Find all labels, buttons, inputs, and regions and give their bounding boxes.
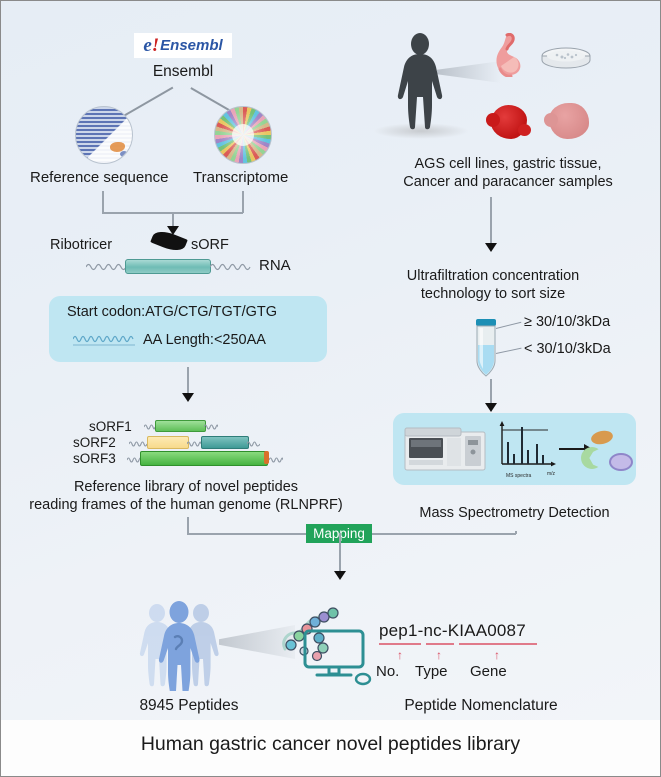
library-caption-line1: Reference library of novel peptides [11,479,361,496]
merge-line-right [242,191,244,213]
criteria-arrow-stem [187,367,189,395]
ribotricer-label: Ribotricer [50,237,112,254]
peptide-blob-purple-icon [609,453,633,471]
samples-arrow-stem [490,197,492,245]
sorf1-block [155,420,206,432]
rna-label: RNA [259,257,291,275]
ensembl-source-label: Ensembl [114,63,252,81]
samples-caption-line1: AGS cell lines, gastric tissue, [363,156,653,173]
sorf3-wave-right-icon [269,454,283,465]
ensembl-logo: e!Ensembl [134,33,232,58]
nomenclature-caption: Peptide Nomenclature [361,697,601,715]
sorf-rna-block [125,259,211,274]
paracancer-tissue-icon [549,103,589,139]
transcriptome-label: Transcriptome [193,169,288,187]
transcriptome-circle-icon [214,106,272,164]
nomenclature-underline-no [379,643,421,645]
fraction-below-label: < 30/10/3kDa [524,341,611,358]
nomenclature-underline-type [426,643,454,645]
mass-spectrometer-icon [403,422,487,474]
sorf2-label: sORF2 [73,435,116,451]
aa-length-text: AA Length:<250AA [143,332,266,349]
sorf-label: sORF [191,237,229,254]
criteria-arrow-head [182,393,194,402]
mapping-arrow-head [334,571,346,580]
library-caption-line2: reading frames of the human genome (RLNP… [3,497,369,514]
ms-spectrum-axis-label: m/z [547,471,555,477]
tumor-tissue-icon [491,105,527,139]
samples-arrow-head [485,243,497,252]
criteria-wave-icon [73,333,135,352]
sorf1-wave-right-icon [204,421,218,432]
rna-wave-right-icon [210,261,254,272]
samples-caption-line2: Cancer and paracancer samples [363,174,653,191]
tube-arrow-stem [490,379,492,405]
ms-spectrum-plot [496,420,558,476]
nomenclature-arrow-no: ↑ [397,649,403,661]
ms-spectrum-xlabel: MS spectra [506,473,531,479]
mass-spec-caption: Mass Spectrometry Detection [393,505,636,522]
merge-line-left [102,191,104,213]
sorf2-block-b [201,436,249,449]
ms-to-peptide-arrow-stem [559,448,585,450]
ensembl-logo-exclamation: ! [152,36,159,55]
sorf1-label: sORF1 [89,419,132,435]
sorf2-wave-right-icon [247,438,260,449]
reference-sequence-label: Reference sequence [30,169,168,187]
rna-wave-left-icon [86,261,126,272]
fraction-above-label: ≥ 30/10/3kDa [524,314,610,331]
mapping-arrow-stem [339,533,341,573]
computer-monitor-icon [301,629,373,687]
peptide-nomenclature-example: pep1-nc-KIAA0087 [379,621,526,641]
nomenclature-arrow-gene: ↑ [494,649,500,661]
mapping-line-left-stem [187,517,189,534]
nomenclature-part-gene: Gene [470,663,507,681]
ensembl-logo-word: Ensembl [160,38,223,53]
human-silhouette-icon [389,33,451,131]
ultrafiltration-line2: technology to sort size [373,286,613,303]
reference-sequence-circle-icon [75,106,133,164]
stomach-icon [493,33,525,77]
start-codon-text: Start codon:ATG/CTG/TGT/GTG [67,304,277,321]
sorf1-wave-left-icon [144,421,155,432]
sorf2-block-a [147,436,189,449]
nomenclature-part-type: Type [415,663,448,681]
ensembl-logo-e: e [143,36,151,55]
figure-title: Human gastric cancer novel peptides libr… [1,733,660,756]
figure-root: e!Ensembl Ensembl Reference sequence Tra… [0,0,661,777]
sorf2-wave-left-icon [129,438,147,449]
sorf3-wave-left-icon [127,454,141,465]
ultrafiltration-line1: Ultrafiltration concentration [373,268,613,285]
nomenclature-arrow-type: ↑ [436,649,442,661]
nomenclature-underline-gene [459,643,537,645]
petri-dish-icon [541,46,591,70]
sorf3-label: sORF3 [73,451,116,467]
sorf3-block [140,451,268,466]
sorf2-wave-mid-icon [187,438,201,449]
peptides-count-label: 8945 Peptides [91,697,287,715]
human-figures-icon [131,599,227,691]
nomenclature-part-no: No. [376,663,399,681]
tube-arrow-head [485,403,497,412]
